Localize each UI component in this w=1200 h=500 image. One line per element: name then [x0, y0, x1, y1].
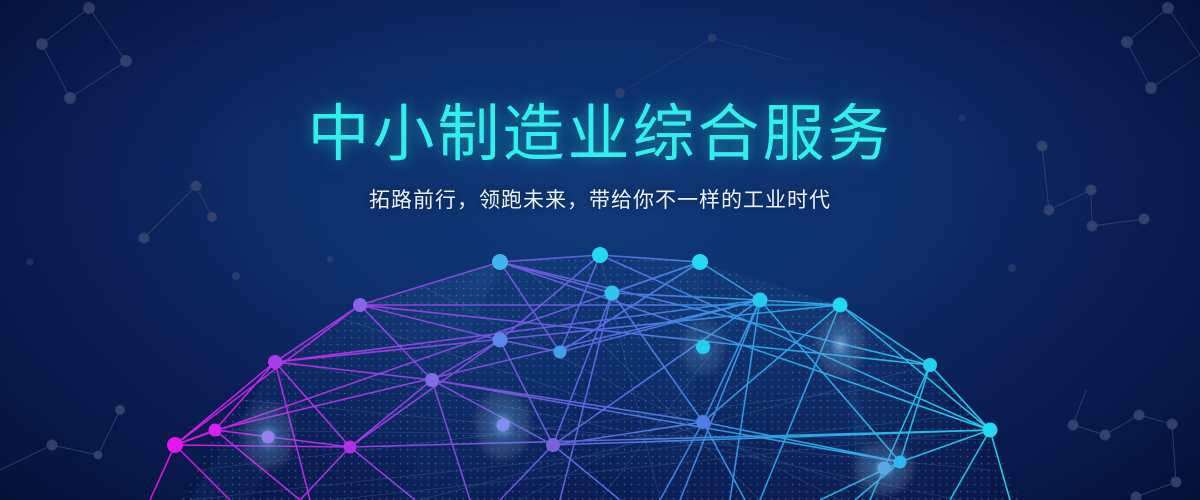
- background-vignette: [0, 0, 1200, 500]
- hero-banner: 中小制造业综合服务 拓路前行，领跑未来，带给你不一样的工业时代: [0, 0, 1200, 500]
